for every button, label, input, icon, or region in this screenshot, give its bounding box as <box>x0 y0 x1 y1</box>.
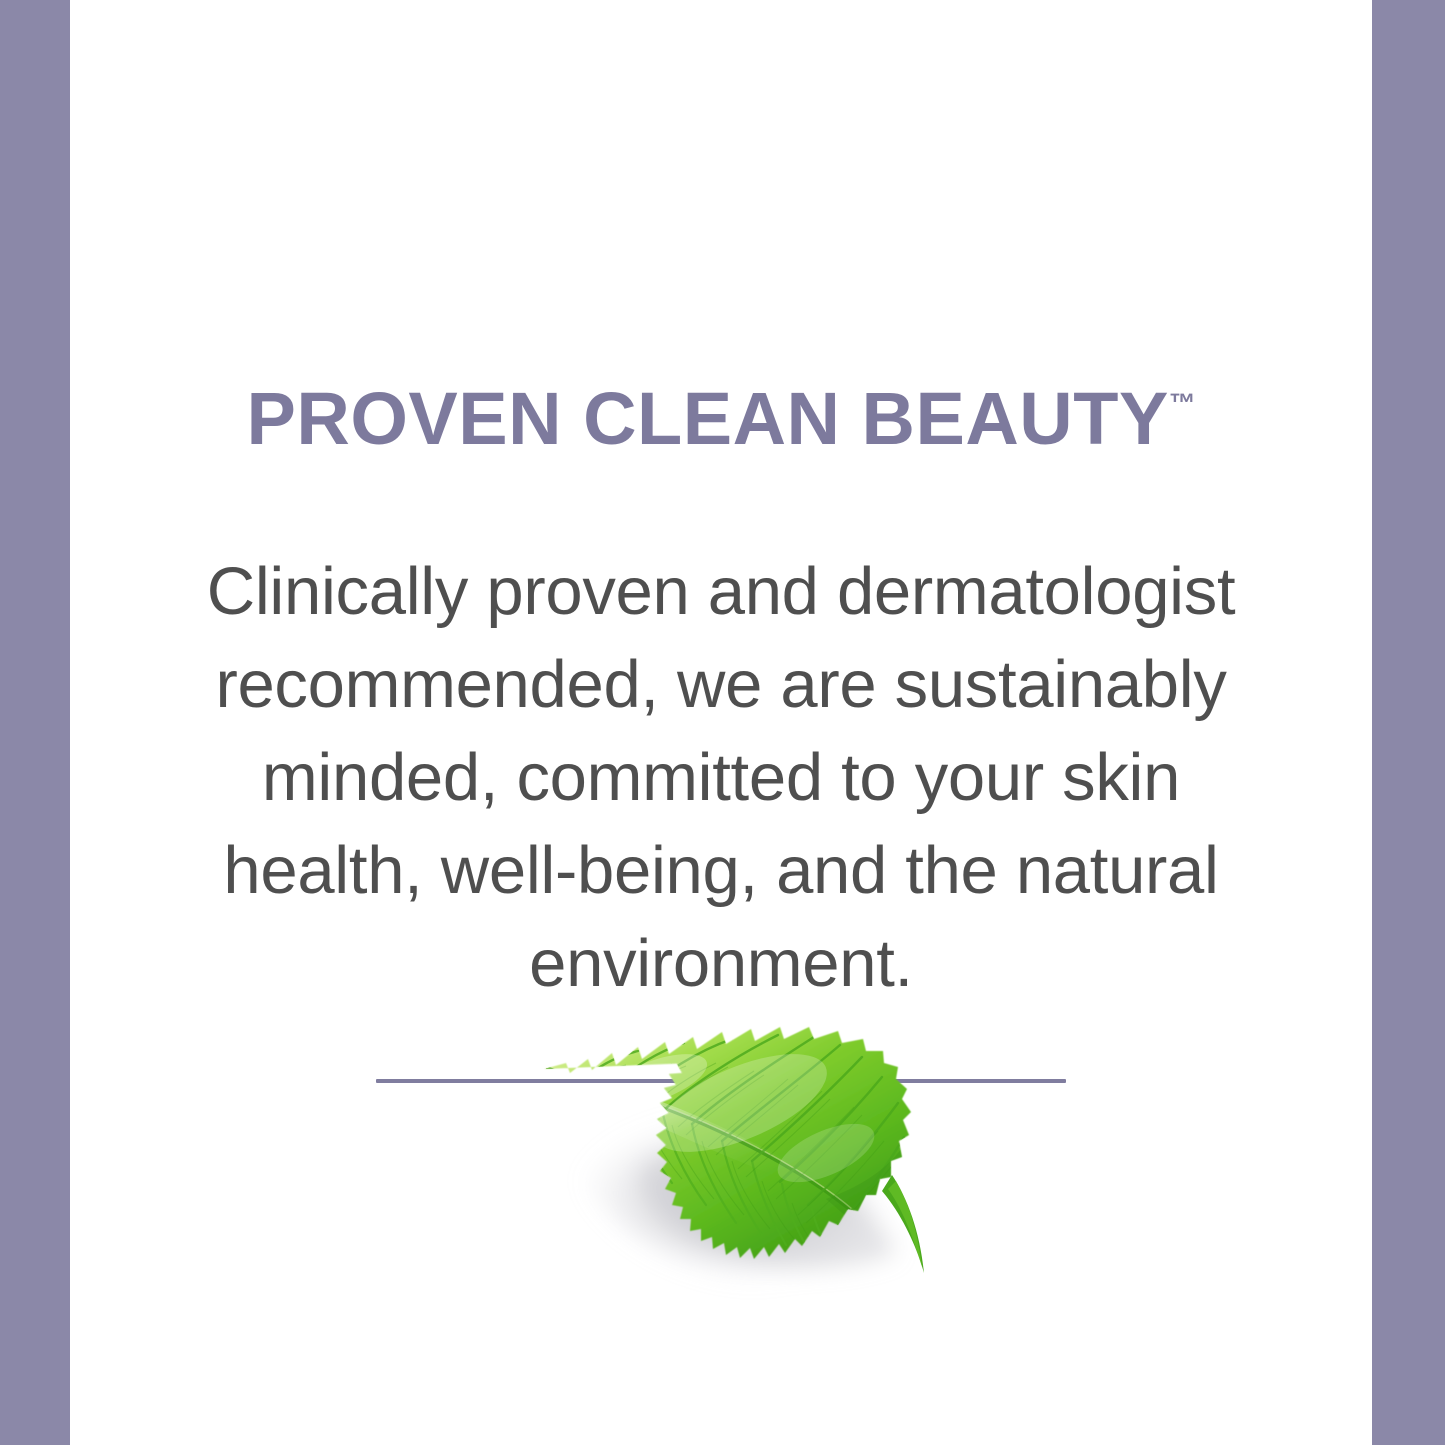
leaf-shadow <box>575 1114 898 1284</box>
page-title: PROVEN CLEAN BEAUTY™ <box>70 380 1372 458</box>
body-paragraph: Clinically proven and dermatologist reco… <box>166 545 1276 1010</box>
promo-panel: PROVEN CLEAN BEAUTY™ Clinically proven a… <box>0 0 1445 1445</box>
right-frame-bar <box>1372 0 1445 1445</box>
leaf-emblem <box>376 985 1066 1305</box>
leaf-blade <box>544 1027 924 1285</box>
leaf-veins <box>548 1034 922 1285</box>
trademark-icon: ™ <box>1169 388 1196 418</box>
page-title-text: PROVEN CLEAN BEAUTY <box>247 377 1169 460</box>
left-frame-bar <box>0 0 70 1445</box>
green-leaf-icon <box>526 985 996 1305</box>
content-area: PROVEN CLEAN BEAUTY™ Clinically proven a… <box>70 0 1372 1445</box>
divider-line <box>376 1079 1066 1083</box>
